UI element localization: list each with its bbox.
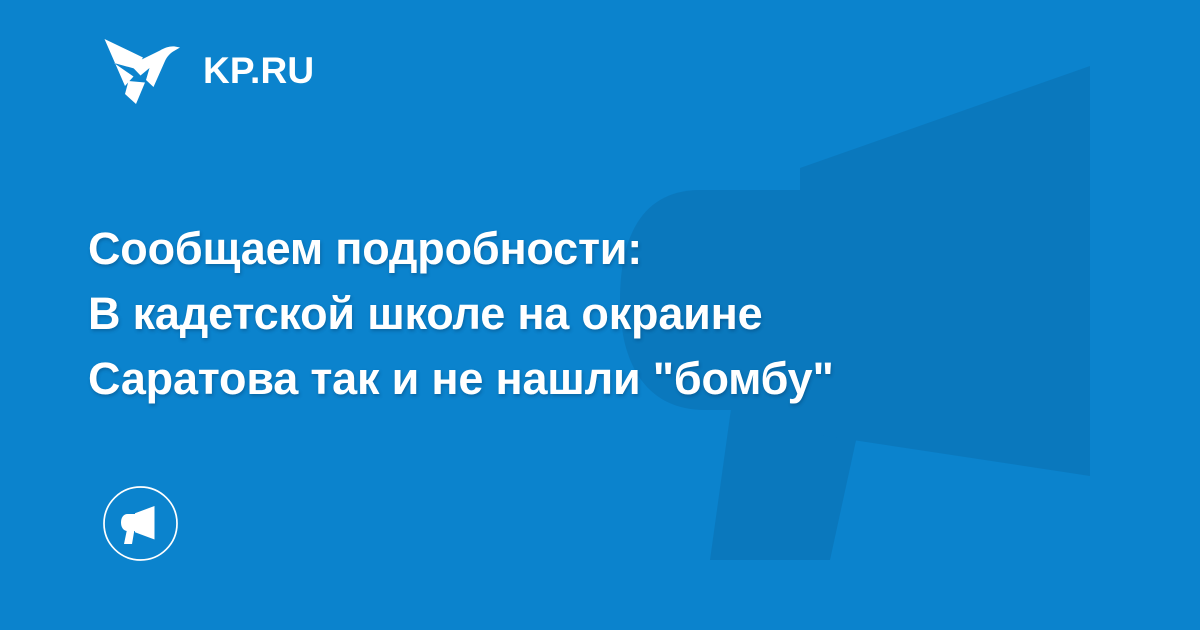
megaphone-badge[interactable] <box>102 485 179 562</box>
brand-logo[interactable]: KP.RU <box>103 34 314 106</box>
brand-name-text: KP.RU <box>203 52 314 89</box>
swallow-bird-icon <box>103 35 181 105</box>
headline-line-1: Сообщаем подробности: <box>88 216 1098 281</box>
headline: Сообщаем подробности: В кадетской школе … <box>88 216 1098 411</box>
social-share-card: KP.RU Сообщаем подробности: В кадетской … <box>0 0 1200 630</box>
headline-line-3: Саратова так и не нашли "бомбу" <box>88 346 1098 411</box>
headline-line-2: В кадетской школе на окраине <box>88 281 1098 346</box>
megaphone-icon <box>102 485 179 562</box>
